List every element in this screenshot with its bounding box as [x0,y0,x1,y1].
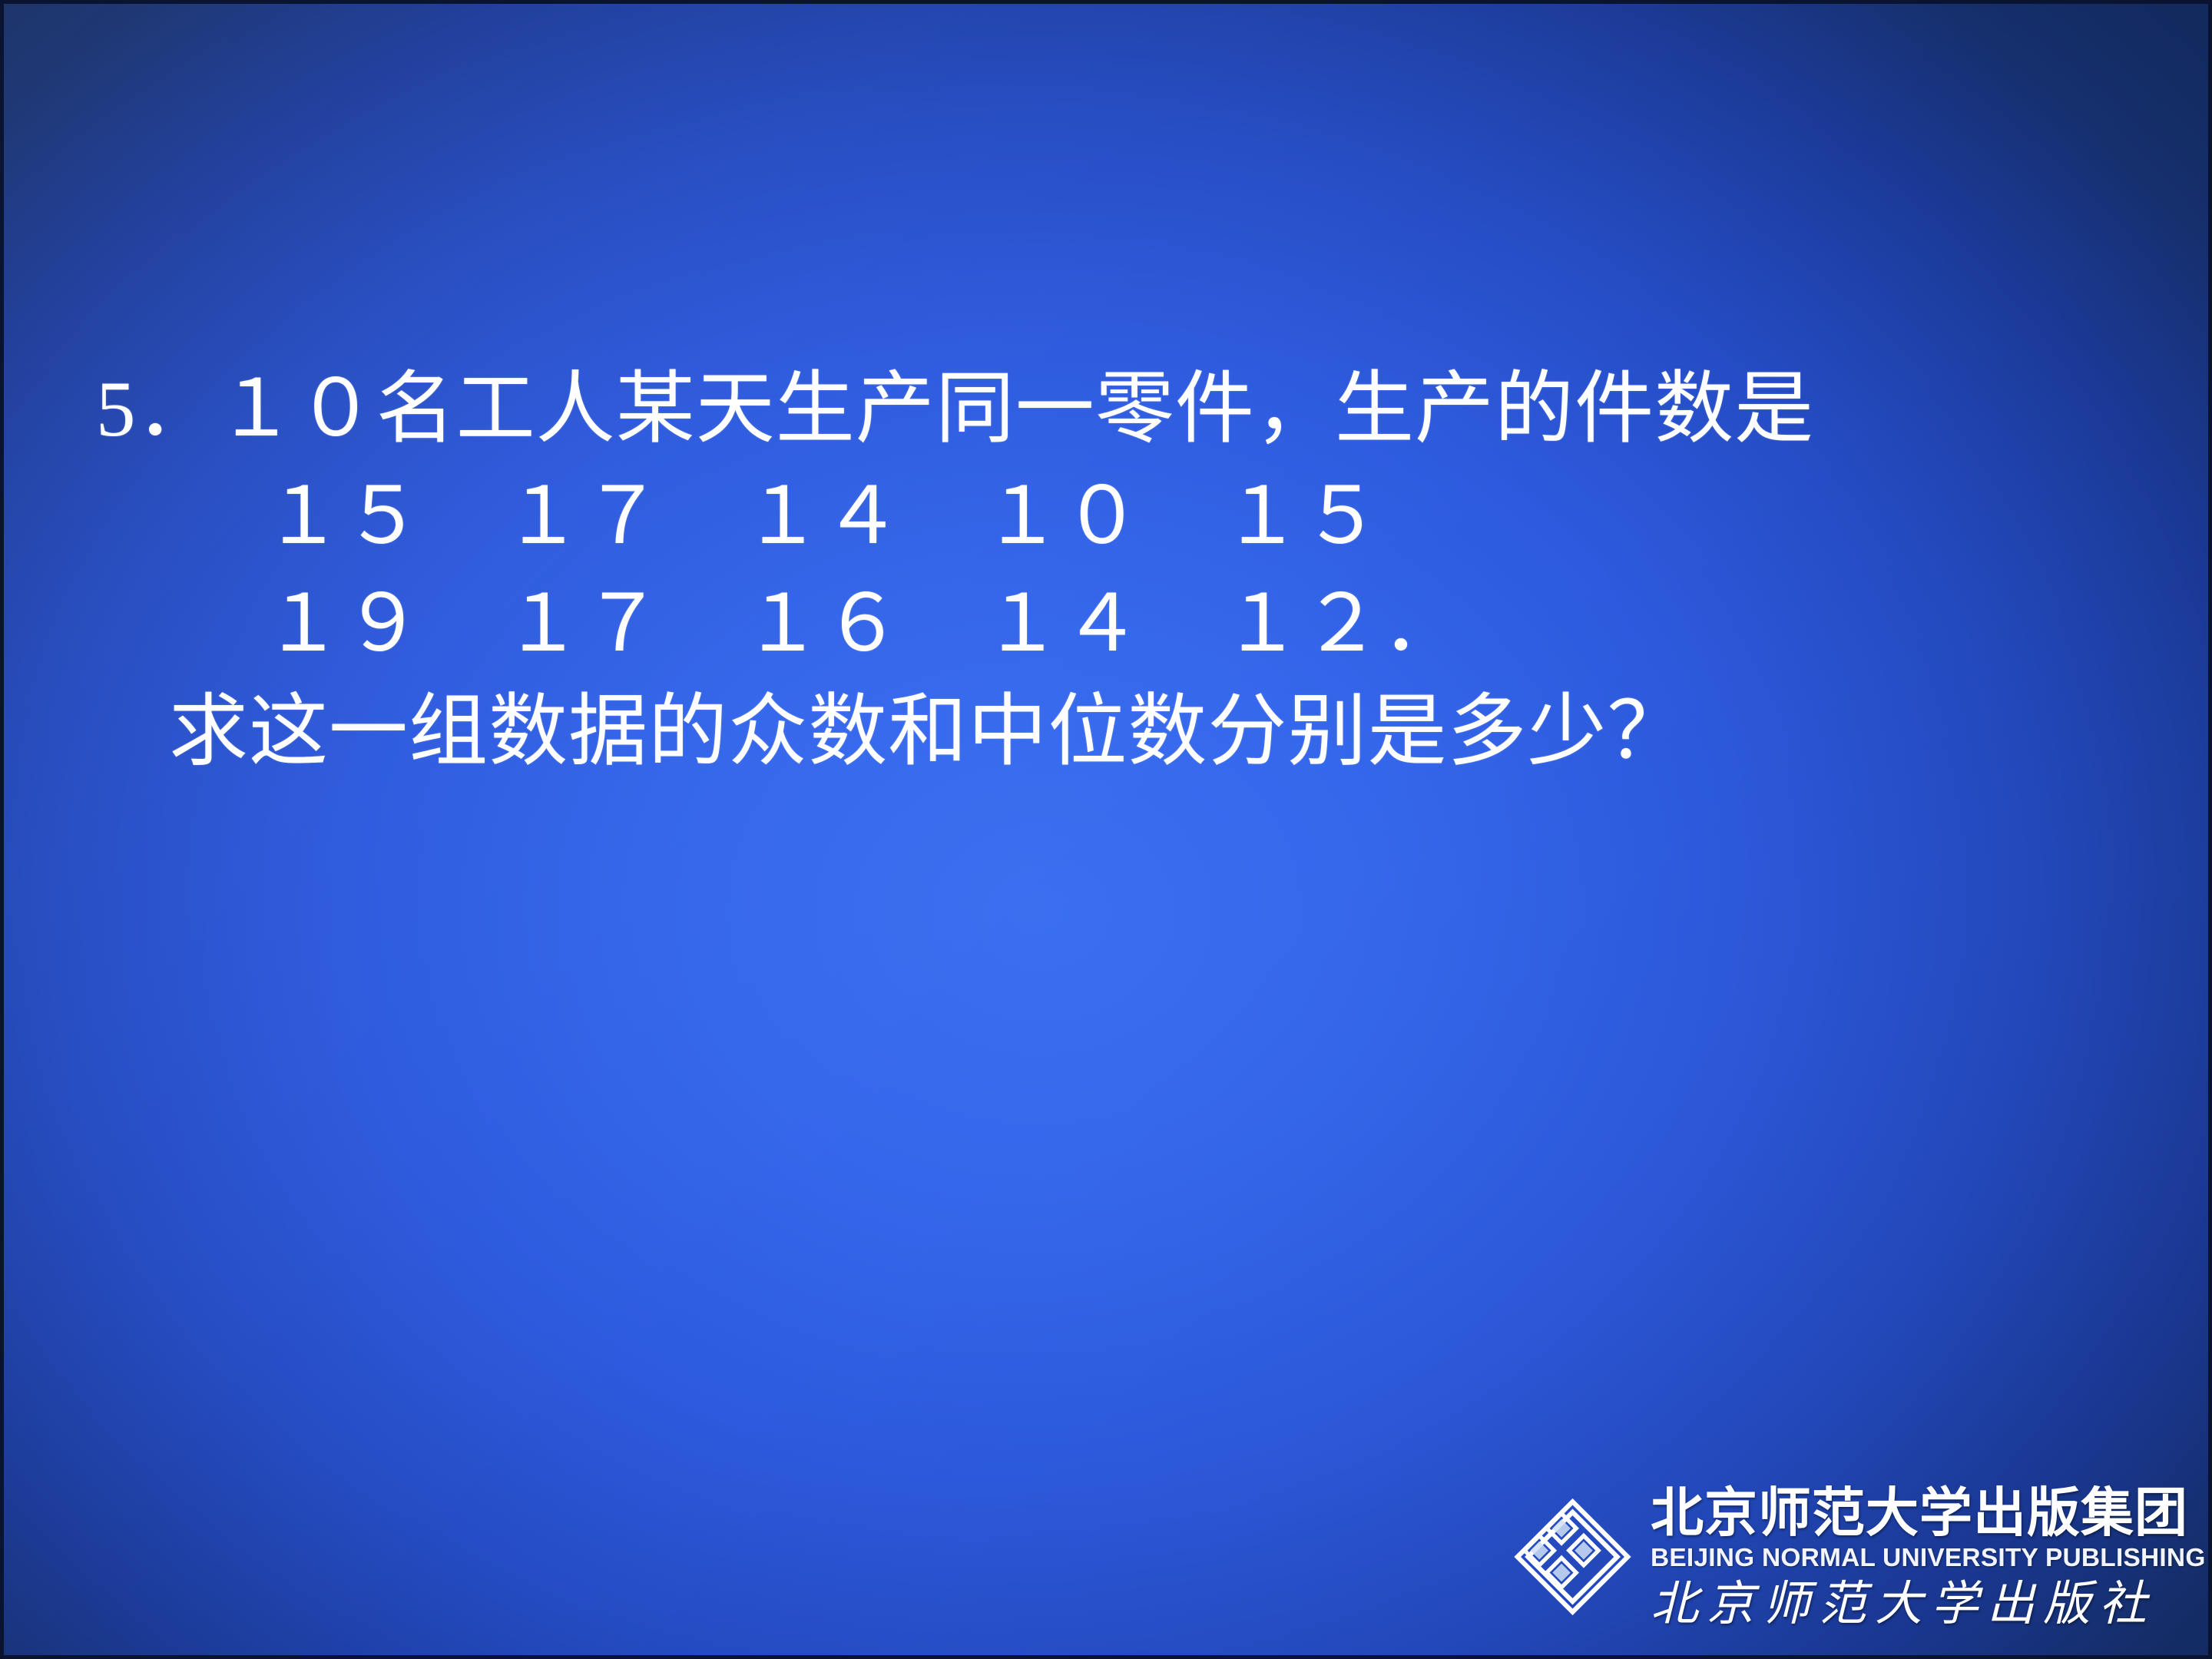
publisher-press-name-cn: 北京师范大学出版社 [1651,1580,2212,1628]
publisher-logo-text: 北京师范大学出版集团 BEIJING NORMAL UNIVERSITY PUB… [1651,1486,2212,1628]
problem-line-1: 5．１０名工人某天生产同一零件，生产的件数是 [96,356,2108,463]
problem-line-2-data-row-1: １５ １７ １４ １０ １５ [96,463,2108,571]
problem-line-4-question: 求这一组数据的众数和中位数分别是多少？ [96,678,2108,786]
publisher-name-cn: 北京师范大学出版集团 [1651,1486,2212,1539]
publisher-name-en: BEIJING NORMAL UNIVERSITY PUBLISHING GRO… [1651,1545,2212,1571]
presentation-slide: 5．１０名工人某天生产同一零件，生产的件数是 １５ １７ １４ １０ １５ １９… [0,0,2212,1659]
problem-text-block: 5．１０名工人某天生产同一零件，生产的件数是 １５ １７ １４ １０ １５ １９… [96,356,2108,786]
problem-line-3-data-row-2: １９ １７ １６ １４ １２． [96,571,2108,678]
slide-content: 5．１０名工人某天生产同一零件，生产的件数是 １５ １７ １４ １０ １５ １９… [4,4,2208,1655]
publisher-logo: 北京师范大学出版集团 BEIJING NORMAL UNIVERSITY PUB… [1505,1472,2197,1641]
diamond-emblem-icon [1505,1480,1640,1634]
